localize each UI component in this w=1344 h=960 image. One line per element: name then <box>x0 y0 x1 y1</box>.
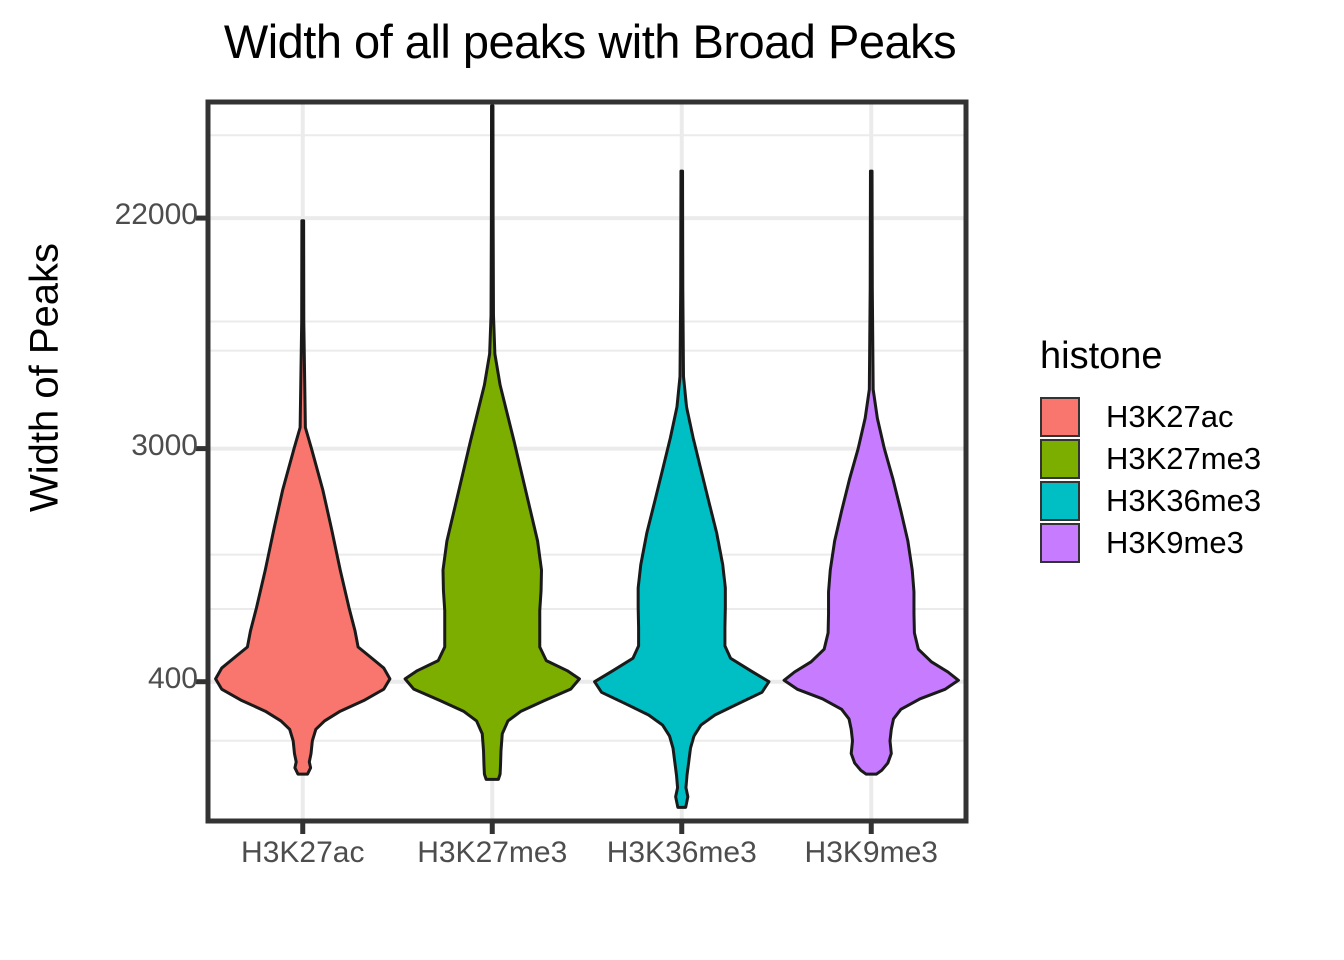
legend-item-H3K36me3[interactable]: H3K36me3 <box>1040 480 1340 522</box>
legend: histone H3K27acH3K27me3H3K36me3H3K9me3 <box>1040 335 1340 564</box>
legend-item-H3K9me3[interactable]: H3K9me3 <box>1040 522 1340 564</box>
legend-item-label: H3K27me3 <box>1106 441 1261 477</box>
legend-title: histone <box>1040 335 1340 378</box>
legend-color-swatch <box>1040 397 1080 437</box>
y-axis-tick-label: 3000 <box>131 429 198 463</box>
x-axis-tick-label-H3K9me3: H3K9me3 <box>805 836 938 870</box>
legend-item-H3K27me3[interactable]: H3K27me3 <box>1040 438 1340 480</box>
legend-items: H3K27acH3K27me3H3K36me3H3K9me3 <box>1040 396 1340 564</box>
legend-item-label: H3K9me3 <box>1106 525 1244 561</box>
y-axis-tick-label: 400 <box>148 662 198 696</box>
legend-item-label: H3K36me3 <box>1106 483 1261 519</box>
y-axis-tick-label: 22000 <box>115 198 198 232</box>
violin-plot-figure: Width of all peaks with Broad Peaks Widt… <box>0 0 1344 960</box>
x-axis-tick-label-H3K36me3: H3K36me3 <box>607 836 757 870</box>
x-axis-tick-label-H3K27ac: H3K27ac <box>241 836 364 870</box>
legend-color-swatch <box>1040 523 1080 563</box>
legend-color-swatch <box>1040 439 1080 479</box>
legend-item-H3K27ac[interactable]: H3K27ac <box>1040 396 1340 438</box>
legend-item-label: H3K27ac <box>1106 399 1234 435</box>
x-axis-tick-label-H3K27me3: H3K27me3 <box>417 836 567 870</box>
legend-color-swatch <box>1040 481 1080 521</box>
